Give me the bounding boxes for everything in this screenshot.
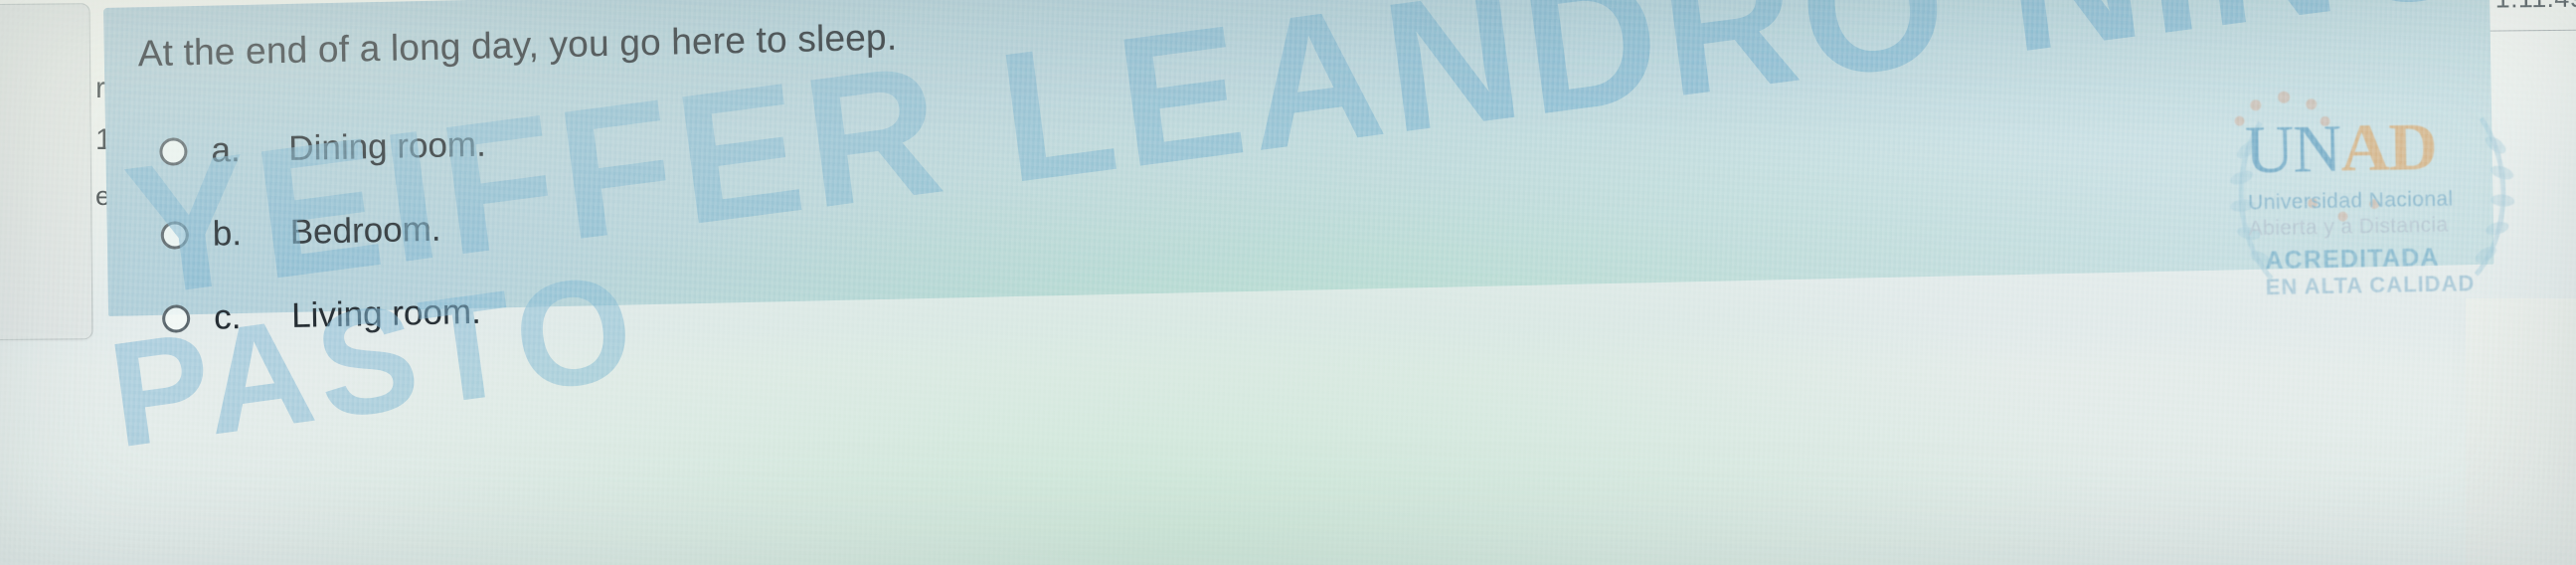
option-letter-a: a.	[211, 129, 267, 170]
unad-subtitle-line2: Abierta y a Distancia	[2248, 214, 2448, 242]
page-right-edge	[2466, 298, 2576, 565]
unad-wordmark: UNAD	[2245, 112, 2438, 184]
option-label-b: Bedroom.	[289, 209, 440, 252]
radio-button-icon-a[interactable]	[159, 137, 187, 166]
option-letter-b: b.	[212, 213, 268, 254]
radio-button-icon-b[interactable]	[161, 221, 189, 250]
unad-wordmark-un: UN	[2244, 110, 2341, 188]
answer-option-a[interactable]: a. Dining room.	[159, 117, 486, 179]
unad-wordmark-ad: AD	[2340, 108, 2438, 186]
quiz-navigation-panel[interactable]	[0, 3, 92, 341]
unad-subtitle-line1: Universidad Nacional	[2248, 188, 2454, 216]
question-text: At the end of a long day, you go here to…	[137, 17, 897, 76]
page-lower-area	[0, 328, 2576, 565]
unad-logo: UNAD Universidad Nacional Abierta y a Di…	[2210, 75, 2542, 309]
question-card: At the end of a long day, you go here to…	[103, 0, 2494, 316]
unad-accreditation-line2: EN ALTA CALIDAD	[2266, 271, 2476, 300]
option-label-a: Dining room.	[288, 124, 486, 168]
answer-option-b[interactable]: b. Bedroom.	[160, 201, 487, 263]
screen-photo: Tiempo restante 1:11:49 r aún 1 egunta A…	[0, 0, 2576, 565]
